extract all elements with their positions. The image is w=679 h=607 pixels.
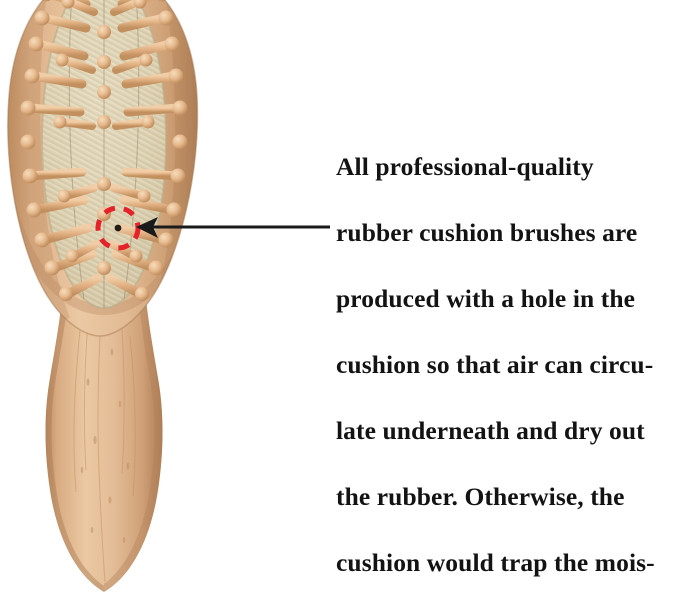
caption-line: cushion so that air can circu- [336, 348, 666, 381]
cushion-air-hole [115, 225, 122, 232]
caption-line: produced with a hole in the [336, 282, 666, 315]
annotation-caption: All professional-quality rubber cushion … [336, 117, 666, 607]
caption-line: cushion would trap the mois- [336, 546, 666, 579]
caption-line: the rubber. Otherwise, the [336, 480, 666, 513]
hair-brush-photo [0, 0, 330, 607]
caption-line: late underneath and dry out [336, 414, 666, 447]
caption-line: All professional-quality [336, 150, 666, 183]
caption-line: rubber cushion brushes are [336, 216, 666, 249]
brush-head-group [0, 0, 210, 340]
screenshot-canvas: All professional-quality rubber cushion … [0, 0, 679, 607]
